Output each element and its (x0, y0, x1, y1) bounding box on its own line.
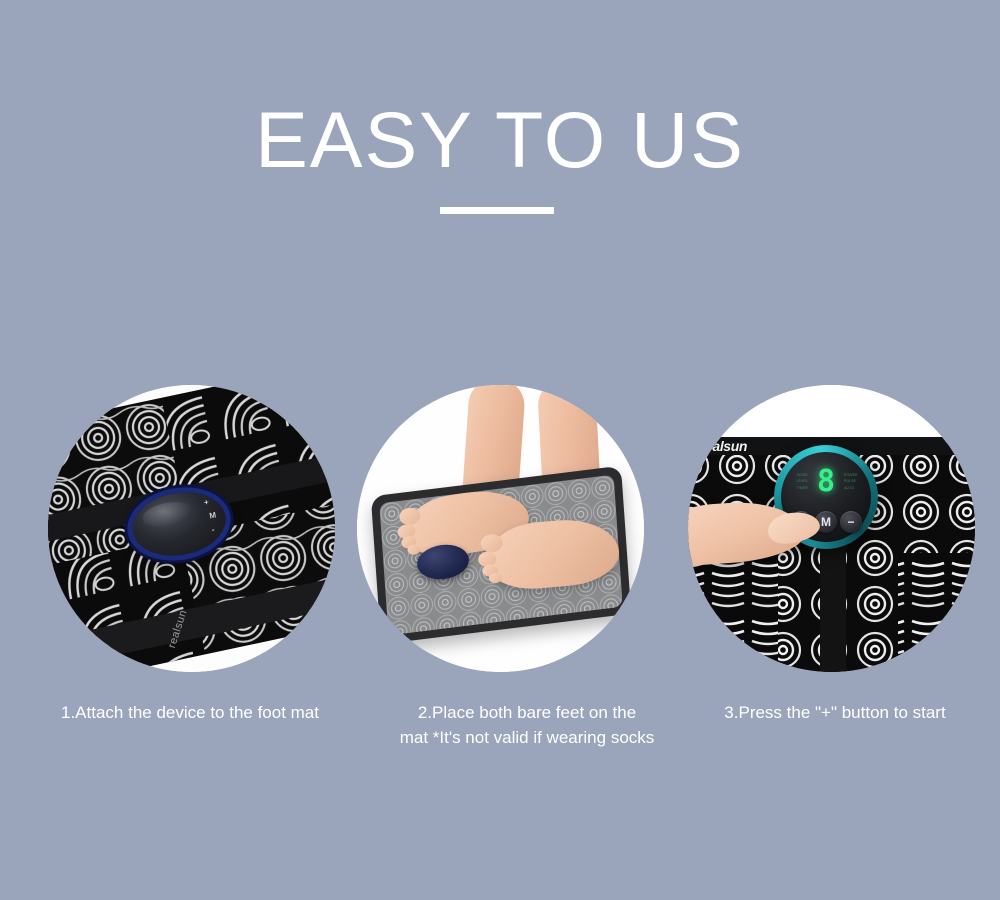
toe (480, 533, 503, 553)
device-minus-icon: - (211, 525, 215, 534)
panel-attach-device: + M - realsun (48, 385, 335, 672)
title-underline-bar (440, 207, 554, 214)
caption-step-3: 3.Press the "+" button to start (680, 700, 990, 725)
device-plus-icon: + (203, 498, 209, 508)
display-value: 8 (817, 467, 835, 497)
header: EASY TO US (0, 0, 1000, 250)
photo-circle-2 (357, 385, 644, 672)
display-label: MODE (797, 474, 808, 477)
panel-place-feet (357, 385, 644, 672)
display-label: LEVEL (796, 480, 808, 483)
brand-label-3: realsun (700, 438, 747, 454)
steps-panel-group: + M - realsun (0, 385, 1000, 675)
caption-line: 3.Press the "+" button to start (680, 700, 990, 725)
device-mode-icon: M (209, 511, 217, 521)
caption-line: 1.Attach the device to the foot mat (20, 700, 360, 725)
caption-line: mat *It's not valid if wearing socks (362, 725, 692, 750)
page-title: EASY TO US (0, 100, 1000, 179)
display-label: POWER (844, 474, 858, 477)
device-highlight (141, 498, 196, 531)
display-label: PULSE (844, 480, 856, 483)
caption-step-1: 1.Attach the device to the foot mat (20, 700, 360, 725)
photo-circle-1: + M - realsun (48, 385, 335, 672)
caption-step-2: 2.Place both bare feet on the mat *It's … (362, 700, 692, 750)
toe (488, 573, 502, 584)
panel-press-plus: realsun MODE LEVEL TIMER 8 POWER PULSE (688, 385, 975, 672)
display-label: AUTO (844, 487, 854, 490)
photo-circle-3: realsun MODE LEVEL TIMER 8 POWER PULSE (688, 385, 975, 672)
display-label: TIMER (796, 487, 808, 490)
display-labels-left: MODE LEVEL TIMER (792, 464, 808, 500)
minus-button[interactable]: − (840, 511, 862, 533)
controller-display: MODE LEVEL TIMER 8 POWER PULSE AUTO (794, 464, 858, 500)
mat-center-strap (820, 535, 846, 672)
caption-line: 2.Place both bare feet on the (362, 700, 692, 725)
display-labels-right: POWER PULSE AUTO (844, 464, 860, 500)
